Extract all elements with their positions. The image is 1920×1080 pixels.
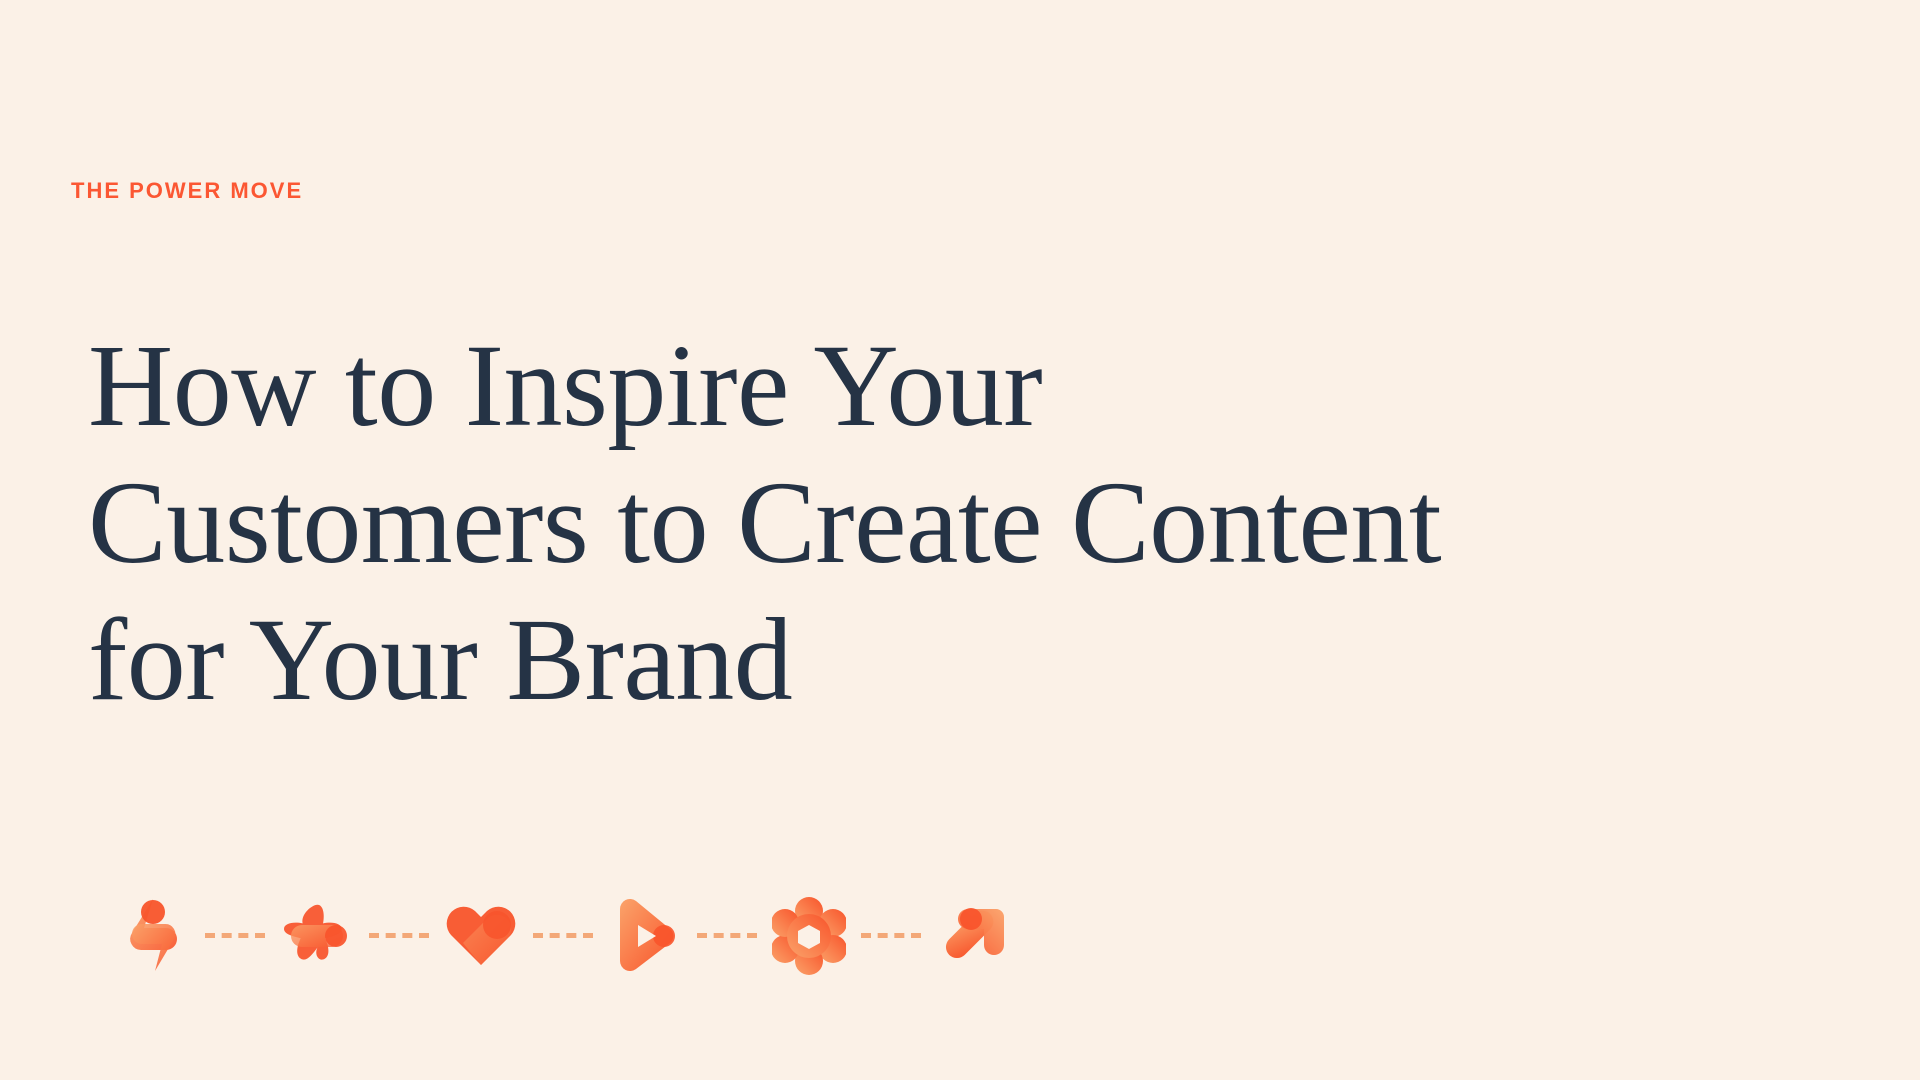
eyebrow-label: THE POWER MOVE: [71, 180, 303, 202]
heart-icon: [438, 885, 524, 985]
connector-dashes-5: [852, 885, 930, 985]
lightning-bolt-icon: [110, 885, 196, 985]
play-button-icon: [602, 885, 688, 985]
connector-dashes-4: [688, 885, 766, 985]
slide-canvas: THE POWER MOVE How to Inspire Your Custo…: [0, 0, 1920, 1080]
star-burst-icon: [274, 885, 360, 985]
headline-line-2: Customers to Create Content: [88, 455, 1728, 592]
connector-dashes-1: [196, 885, 274, 985]
icon-strip: [110, 880, 1016, 990]
arrow-up-right-icon: [930, 885, 1016, 985]
page-title: How to Inspire Your Customers to Create …: [88, 318, 1728, 729]
connector-dashes-2: [360, 885, 438, 985]
headline-line-1: How to Inspire Your: [88, 318, 1728, 455]
connector-dashes-3: [524, 885, 602, 985]
headline-line-3: for Your Brand: [88, 592, 1728, 729]
flower-gear-icon: [766, 885, 852, 985]
